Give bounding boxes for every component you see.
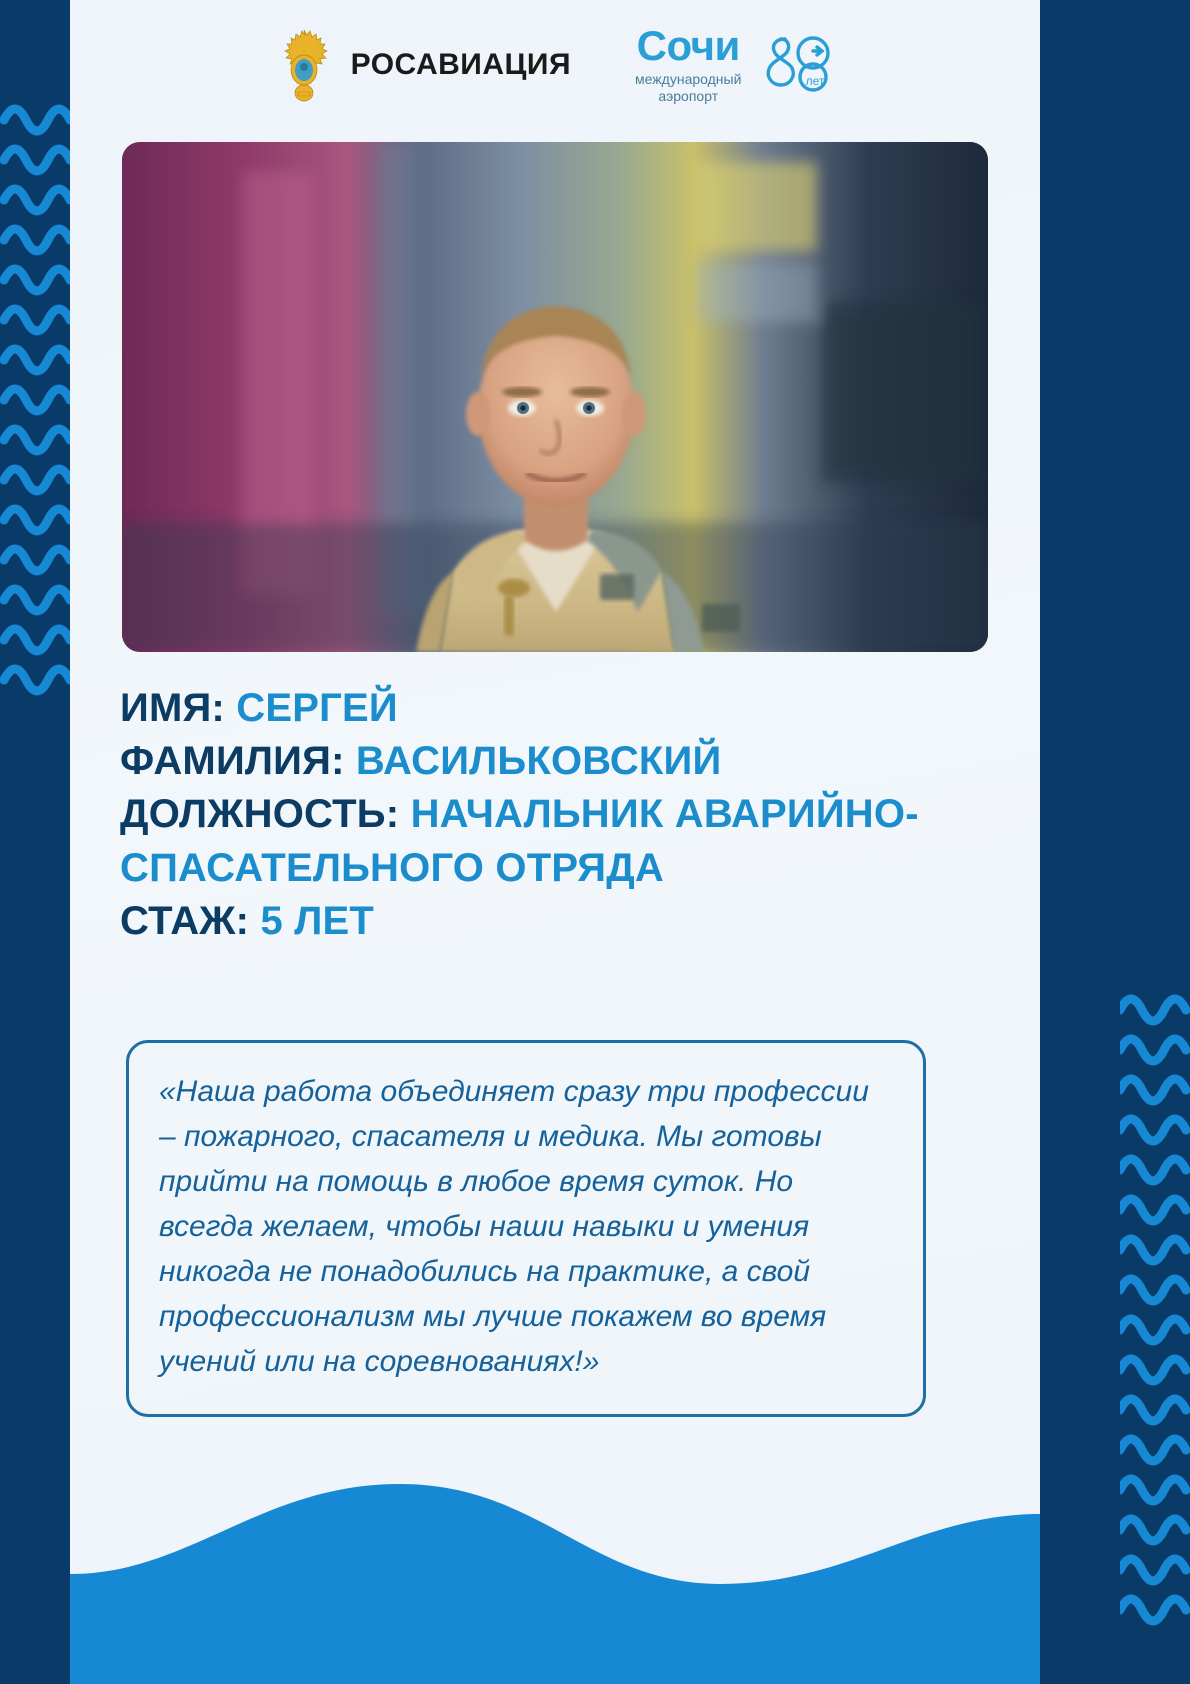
info-label-surname: ФАМИЛИЯ: bbox=[120, 739, 345, 783]
sochi-subtitle: международный аэропорт bbox=[635, 71, 741, 106]
info-row-name: ИМЯ: СЕРГЕЙ bbox=[120, 682, 1000, 735]
content-card: РОСАВИАЦИЯ Сочи международный аэропорт bbox=[70, 0, 1040, 1684]
rosaviatsia-label: РОСАВИАЦИЯ bbox=[351, 48, 571, 82]
info-value-surname: ВАСИЛЬКОВСКИЙ bbox=[356, 739, 722, 783]
info-row-surname: ФАМИЛИЯ: ВАСИЛЬКОВСКИЙ bbox=[120, 735, 1000, 788]
info-row-position: ДОЛЖНОСТЬ: НАЧАЛЬНИК АВАРИЙНО-СПАСАТЕЛЬН… bbox=[120, 788, 1000, 894]
quote-box: «Наша работа объединяет сразу три профес… bbox=[126, 1040, 926, 1417]
rosaviatsia-logo: РОСАВИАЦИЯ bbox=[273, 26, 571, 104]
info-value-name: СЕРГЕЙ bbox=[236, 686, 398, 730]
sochi-subtitle-line2: аэропорт bbox=[658, 88, 718, 104]
right-wave-decoration bbox=[1120, 0, 1190, 1684]
portrait-photo bbox=[122, 142, 988, 652]
info-row-experience: СТАЖ: 5 ЛЕТ bbox=[120, 895, 1000, 948]
sochi-airport-logo: Сочи международный аэропорт лет bbox=[635, 25, 837, 106]
sochi-subtitle-line1: международный bbox=[635, 71, 741, 87]
info-label-name: ИМЯ: bbox=[120, 686, 225, 730]
sochi-wordmark: Сочи международный аэропорт bbox=[635, 25, 741, 106]
anniversary-80-years-icon: лет bbox=[751, 29, 837, 101]
russian-double-headed-eagle-emblem-icon bbox=[273, 26, 335, 104]
bottom-wave-decoration bbox=[70, 1364, 1040, 1684]
sochi-title: Сочи bbox=[637, 25, 740, 67]
person-info-block: ИМЯ: СЕРГЕЙ ФАМИЛИЯ: ВАСИЛЬКОВСКИЙ ДОЛЖН… bbox=[120, 682, 1000, 948]
info-label-experience: СТАЖ: bbox=[120, 899, 249, 943]
info-label-position: ДОЛЖНОСТЬ: bbox=[120, 792, 399, 836]
anniversary-label: лет bbox=[806, 74, 825, 88]
header-logos: РОСАВИАЦИЯ Сочи международный аэропорт bbox=[70, 0, 1040, 130]
poster-root: РОСАВИАЦИЯ Сочи международный аэропорт bbox=[0, 0, 1190, 1684]
left-wave-decoration bbox=[0, 0, 70, 1684]
info-value-experience: 5 ЛЕТ bbox=[261, 899, 375, 943]
quote-text: «Наша работа объединяет сразу три профес… bbox=[159, 1069, 893, 1384]
